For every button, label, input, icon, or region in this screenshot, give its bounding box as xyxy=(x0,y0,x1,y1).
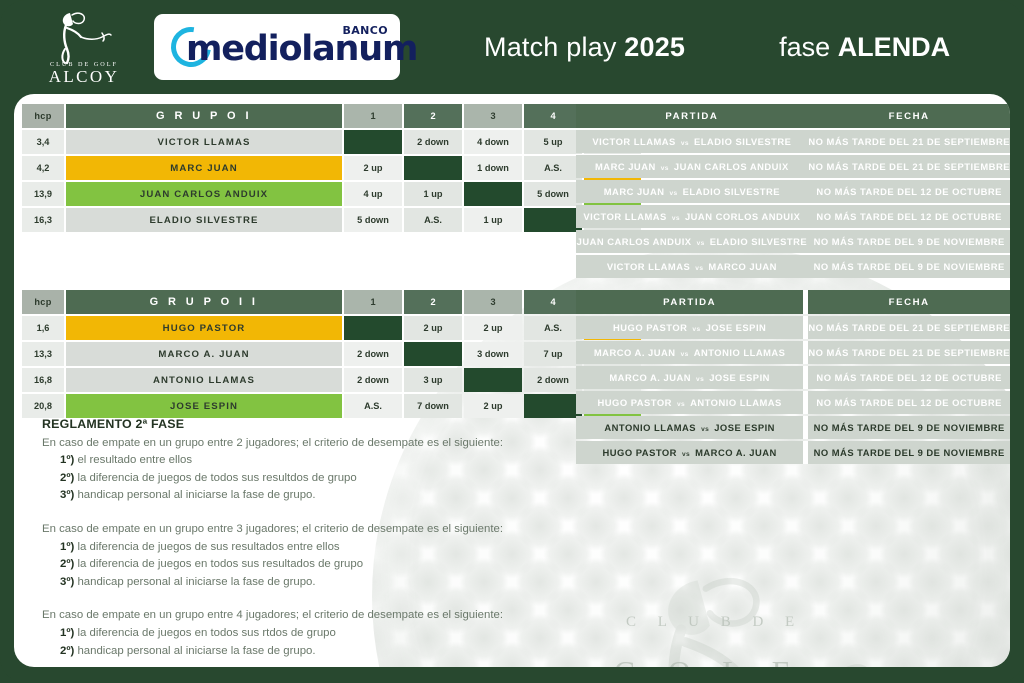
match-pairing: ANTONIO LLAMASvsJOSE ESPIN xyxy=(576,416,803,439)
round-header-2: 2 xyxy=(404,104,462,128)
result-cell: 5 down xyxy=(524,182,582,206)
list-item[interactable]: HUGO PASTORvsMARCO A. JUANNO MÁS TARDE D… xyxy=(576,441,1010,464)
partida-header: PARTIDA xyxy=(576,290,803,314)
result-cell: 2 down xyxy=(344,342,402,366)
round-header-1: 1 xyxy=(344,104,402,128)
list-item[interactable]: MARC JUANvsELADIO SILVESTRENO MÁS TARDE … xyxy=(576,180,1010,203)
rules-intro: En caso de empate en un grupo entre 4 ju… xyxy=(42,607,562,625)
standings-table: hcpG R U P O I I1234Puntos1,6HUGO PASTOR… xyxy=(20,288,643,420)
match-deadline: NO MÁS TARDE DEL 12 DE OCTUBRE xyxy=(808,205,1010,228)
watermark-text-line1: C L U B D E xyxy=(626,614,803,631)
group-2-matches: PARTIDAFECHAHUGO PASTORvsJOSE ESPINNO MÁ… xyxy=(576,288,1010,466)
standings-header-row: hcpG R U P O I1234Puntos xyxy=(22,104,641,128)
result-cell: 1 up xyxy=(404,182,462,206)
matches-header-row: PARTIDAFECHA xyxy=(576,104,1010,128)
rules-item: 1º) la diferencia de juegos en todos sus… xyxy=(42,625,562,643)
watermark-text-line2: G O L F xyxy=(614,654,801,667)
player-name: ANTONIO LLAMAS xyxy=(66,368,342,392)
blocked-cell xyxy=(404,156,462,180)
match-deadline: NO MÁS TARDE DEL 12 DE OCTUBRE xyxy=(808,391,1010,414)
rules-title: REGLAMENTO 2ª FASE xyxy=(42,416,562,434)
result-cell: 3 up xyxy=(404,368,462,392)
list-item[interactable]: HUGO PASTORvsANTONIO LLAMASNO MÁS TARDE … xyxy=(576,391,1010,414)
table-row[interactable]: 13,9JUAN CARLOS ANDUIX4 up1 up5 down6 xyxy=(22,182,641,206)
vs-label: vs xyxy=(692,240,710,247)
list-item[interactable]: MARC JUANvsJUAN CARLOS ANDUIXNO MÁS TARD… xyxy=(576,155,1010,178)
poster-root: CLUB DE GOLF ALCOY mediolanum BANCO Matc… xyxy=(0,0,1024,683)
round-header-3: 3 xyxy=(464,290,522,314)
hcp-value: 13,9 xyxy=(22,182,64,206)
blocked-cell xyxy=(464,182,522,206)
club-logo-text: CLUB DE GOLF ALCOY xyxy=(36,61,132,85)
rules-item: 1º) el resultado entre ellos xyxy=(42,452,562,470)
vs-label: vs xyxy=(676,351,694,358)
match-deadline: NO MÁS TARDE DEL 9 DE NOVIEMBRE xyxy=(808,230,1010,253)
result-cell: 2 down xyxy=(344,368,402,392)
hcp-header: hcp xyxy=(22,290,64,314)
match-pairing: VICTOR LLAMASvsJUAN CORLOS ANDUIX xyxy=(576,205,808,228)
vs-label: vs xyxy=(690,265,708,272)
match-deadline: NO MÁS TARDE DEL 9 DE NOVIEMBRE xyxy=(808,441,1010,464)
sponsor-banco-label: BANCO xyxy=(342,24,388,37)
rules-item-number: 3º) xyxy=(60,576,74,588)
table-row[interactable]: 16,8ANTONIO LLAMAS2 down3 up2 down3 xyxy=(22,368,641,392)
rules-item: 2º) handicap personal al iniciarse la fa… xyxy=(42,643,562,661)
match-deadline: NO MÁS TARDE DEL 12 DE OCTUBRE xyxy=(808,180,1010,203)
match-deadline: NO MÁS TARDE DEL 9 DE NOVIEMBRE xyxy=(808,416,1010,439)
blocked-cell xyxy=(524,208,582,232)
rules-section: REGLAMENTO 2ª FASE En caso de empate en … xyxy=(42,416,562,660)
result-cell: 4 up xyxy=(344,182,402,206)
table-row[interactable]: 4,2MARC JUAN2 up1 downA.S.4 xyxy=(22,156,641,180)
golfer-icon xyxy=(50,9,116,65)
player-name: MARC JUAN xyxy=(66,156,342,180)
list-item[interactable]: ANTONIO LLAMASvsJOSE ESPINNO MÁS TARDE D… xyxy=(576,416,1010,439)
content-card: C L U B D E G O L F hcpG R U P O I1234Pu… xyxy=(14,94,1010,667)
rules-item: 2º) la diferencia de juegos de todos sus… xyxy=(42,470,562,488)
result-cell: 7 up xyxy=(524,342,582,366)
rules-item-number: 2º) xyxy=(60,472,74,484)
group-1-matches: PARTIDAFECHAVICTOR LLAMASvsELADIO SILVES… xyxy=(576,102,1010,280)
vs-label: vs xyxy=(696,426,714,433)
rules-item-number: 1º) xyxy=(60,454,74,466)
table-row[interactable]: 1,6HUGO PASTOR2 up2 upA.S.7 xyxy=(22,316,641,340)
match-pairing: HUGO PASTORvsMARCO A. JUAN xyxy=(576,441,803,464)
rules-item-number: 1º) xyxy=(60,541,74,553)
result-cell: A.S. xyxy=(404,208,462,232)
phase-title-plain: fase xyxy=(779,32,838,62)
list-item[interactable]: MARCO A. JUANvsJOSE ESPINNO MÁS TARDE DE… xyxy=(576,366,1010,389)
rules-item-number: 2º) xyxy=(60,558,74,570)
rules-item: 1º) la diferencia de juegos de sus resul… xyxy=(42,539,562,557)
vs-label: vs xyxy=(676,140,694,147)
blocked-cell xyxy=(344,316,402,340)
fecha-header: FECHA xyxy=(808,104,1010,128)
result-cell: 2 up xyxy=(344,156,402,180)
blocked-cell xyxy=(524,394,582,418)
table-row[interactable]: 3,4VICTOR LLAMAS2 down4 down5 up3 xyxy=(22,130,641,154)
result-cell: 7 down xyxy=(404,394,462,418)
player-name: ELADIO SILVESTRE xyxy=(66,208,342,232)
blocked-cell xyxy=(404,342,462,366)
match-pairing: MARCO A. JUANvsANTONIO LLAMAS xyxy=(576,341,803,364)
result-cell: 1 down xyxy=(464,156,522,180)
match-pairing: HUGO PASTORvsJOSE ESPIN xyxy=(576,316,803,339)
match-pairing: MARC JUANvsELADIO SILVESTRE xyxy=(576,180,808,203)
player-name: HUGO PASTOR xyxy=(66,316,342,340)
list-item[interactable]: MARCO A. JUANvsANTONIO LLAMASNO MÁS TARD… xyxy=(576,341,1010,364)
vs-label: vs xyxy=(677,451,695,458)
result-cell: 5 up xyxy=(524,130,582,154)
rules-intro: En caso de empate en un grupo entre 2 ju… xyxy=(42,435,562,453)
vs-label: vs xyxy=(664,190,682,197)
match-deadline: NO MÁS TARDE DEL 21 DE SEPTIEMBRE xyxy=(808,341,1010,364)
result-cell: A.S. xyxy=(524,156,582,180)
match-pairing: MARC JUANvsJUAN CARLOS ANDUIX xyxy=(576,155,808,178)
match-deadline: NO MÁS TARDE DEL 9 DE NOVIEMBRE xyxy=(808,255,1010,278)
rules-item-number: 2º) xyxy=(60,645,74,657)
round-header-3: 3 xyxy=(464,104,522,128)
result-cell: 5 down xyxy=(344,208,402,232)
round-header-1: 1 xyxy=(344,290,402,314)
result-cell: 2 up xyxy=(464,394,522,418)
match-pairing: VICTOR LLAMASvsMARCO JUAN xyxy=(576,255,808,278)
match-pairing: JUAN CARLOS ANDUIXvsELADIO SILVESTRE xyxy=(576,230,808,253)
result-cell: 2 down xyxy=(524,368,582,392)
blocked-cell xyxy=(464,368,522,392)
hcp-value: 1,6 xyxy=(22,316,64,340)
vs-label: vs xyxy=(691,376,709,383)
club-logo: CLUB DE GOLF ALCOY xyxy=(36,7,132,87)
round-header-4: 4 xyxy=(524,290,582,314)
rules-gap xyxy=(42,505,562,521)
group-header: G R U P O I xyxy=(66,104,342,128)
result-cell: A.S. xyxy=(524,316,582,340)
result-cell: 4 down xyxy=(464,130,522,154)
phase-title-name: ALENDA xyxy=(838,32,951,62)
rules-intro: En caso de empate en un grupo entre 3 ju… xyxy=(42,521,562,539)
rules-item: 2º) la diferencia de juegos en todos sus… xyxy=(42,556,562,574)
page-title-plain: Match play xyxy=(484,32,624,62)
result-cell: 3 down xyxy=(464,342,522,366)
list-item[interactable]: VICTOR LLAMASvsELADIO SILVESTRENO MÁS TA… xyxy=(576,130,1010,153)
player-name: JUAN CARLOS ANDUIX xyxy=(66,182,342,206)
page-title-year: 2025 xyxy=(624,32,685,62)
hcp-value: 16,3 xyxy=(22,208,64,232)
vs-label: vs xyxy=(667,215,685,222)
match-pairing: HUGO PASTORvsANTONIO LLAMAS xyxy=(576,391,803,414)
hcp-value: 13,3 xyxy=(22,342,64,366)
result-cell: 1 up xyxy=(464,208,522,232)
fecha-header: FECHA xyxy=(808,290,1010,314)
standings-header-row: hcpG R U P O I I1234Puntos xyxy=(22,290,641,314)
rules-item-number: 1º) xyxy=(60,627,74,639)
blocked-cell xyxy=(344,130,402,154)
table-row[interactable]: 13,3MARCO A. JUAN2 down3 down7 up3 xyxy=(22,342,641,366)
result-cell: 2 down xyxy=(404,130,462,154)
rules-item: 3º) handicap personal al iniciarse la fa… xyxy=(42,487,562,505)
page-title: Match play 2025 xyxy=(484,32,685,63)
rules-item: 3º) handicap personal al iniciarse la fa… xyxy=(42,574,562,592)
partida-header: PARTIDA xyxy=(576,104,808,128)
table-row[interactable]: 16,3ELADIO SILVESTRE5 downA.S.1 up4 xyxy=(22,208,641,232)
hcp-value: 16,8 xyxy=(22,368,64,392)
matches-table: PARTIDAFECHAHUGO PASTORvsJOSE ESPINNO MÁ… xyxy=(576,288,1010,466)
club-logo-name: ALCOY xyxy=(36,68,132,85)
match-deadline: NO MÁS TARDE DEL 21 DE SEPTIEMBRE xyxy=(808,130,1010,153)
player-name: VICTOR LLAMAS xyxy=(66,130,342,154)
group-header: G R U P O I I xyxy=(66,290,342,314)
match-deadline: NO MÁS TARDE DEL 21 DE SEPTIEMBRE xyxy=(808,316,1010,339)
group-1-standings: hcpG R U P O I1234Puntos3,4VICTOR LLAMAS… xyxy=(20,102,643,234)
standings-table: hcpG R U P O I1234Puntos3,4VICTOR LLAMAS… xyxy=(20,102,643,234)
matches-header-row: PARTIDAFECHA xyxy=(576,290,1010,314)
hcp-value: 20,8 xyxy=(22,394,64,418)
matches-table: PARTIDAFECHAVICTOR LLAMASvsELADIO SILVES… xyxy=(576,102,1010,280)
match-pairing: VICTOR LLAMASvsELADIO SILVESTRE xyxy=(576,130,808,153)
list-item[interactable]: JUAN CARLOS ANDUIXvsELADIO SILVESTRENO M… xyxy=(576,230,1010,253)
list-item[interactable]: HUGO PASTORvsJOSE ESPINNO MÁS TARDE DEL … xyxy=(576,316,1010,339)
table-row[interactable]: 20,8JOSE ESPINA.S.7 down2 up4 xyxy=(22,394,641,418)
hcp-value: 3,4 xyxy=(22,130,64,154)
hcp-header: hcp xyxy=(22,104,64,128)
result-cell: 2 up xyxy=(464,316,522,340)
rules-gap xyxy=(42,591,562,607)
match-pairing: MARCO A. JUANvsJOSE ESPIN xyxy=(576,366,803,389)
vs-label: vs xyxy=(656,165,674,172)
sponsor-logo: mediolanum BANCO xyxy=(154,14,400,80)
hcp-value: 4,2 xyxy=(22,156,64,180)
player-name: MARCO A. JUAN xyxy=(66,342,342,366)
round-header-4: 4 xyxy=(524,104,582,128)
match-deadline: NO MÁS TARDE DEL 12 DE OCTUBRE xyxy=(808,366,1010,389)
phase-title: fase ALENDA xyxy=(779,32,950,63)
player-name: JOSE ESPIN xyxy=(66,394,342,418)
result-cell: A.S. xyxy=(344,394,402,418)
rules-item-number: 3º) xyxy=(60,489,74,501)
list-item[interactable]: VICTOR LLAMASvsJUAN CORLOS ANDUIXNO MÁS … xyxy=(576,205,1010,228)
list-item[interactable]: VICTOR LLAMASvsMARCO JUANNO MÁS TARDE DE… xyxy=(576,255,1010,278)
result-cell: 2 up xyxy=(404,316,462,340)
rules-body: En caso de empate en un grupo entre 2 ju… xyxy=(42,435,562,661)
vs-label: vs xyxy=(672,401,690,408)
match-deadline: NO MÁS TARDE DEL 21 DE SEPTIEMBRE xyxy=(808,155,1010,178)
group-2-standings: hcpG R U P O I I1234Puntos1,6HUGO PASTOR… xyxy=(20,288,643,420)
vs-label: vs xyxy=(687,326,705,333)
round-header-2: 2 xyxy=(404,290,462,314)
page-header: CLUB DE GOLF ALCOY mediolanum BANCO Matc… xyxy=(0,0,1024,94)
